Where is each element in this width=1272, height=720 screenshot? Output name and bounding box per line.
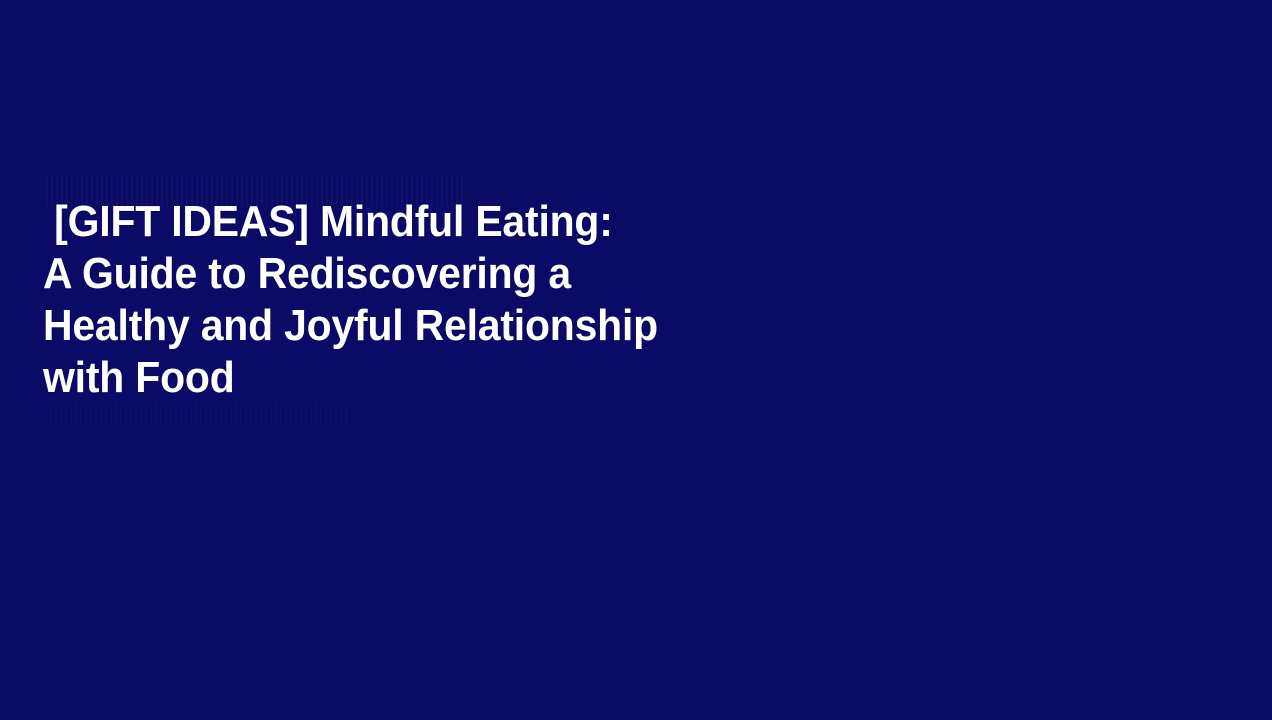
- title-line-4: with Food: [43, 352, 778, 404]
- promo-title-card: [GIFT IDEAS] Mindful Eating: A Guide to …: [0, 0, 1272, 720]
- page-title: [GIFT IDEAS] Mindful Eating: A Guide to …: [43, 196, 833, 404]
- compression-artifact-below-title: [50, 404, 350, 426]
- title-line-1: [GIFT IDEAS] Mindful Eating:: [43, 196, 778, 248]
- title-line-2: A Guide to Rediscovering a: [43, 248, 778, 300]
- title-line-3: Healthy and Joyful Relationship: [43, 300, 778, 352]
